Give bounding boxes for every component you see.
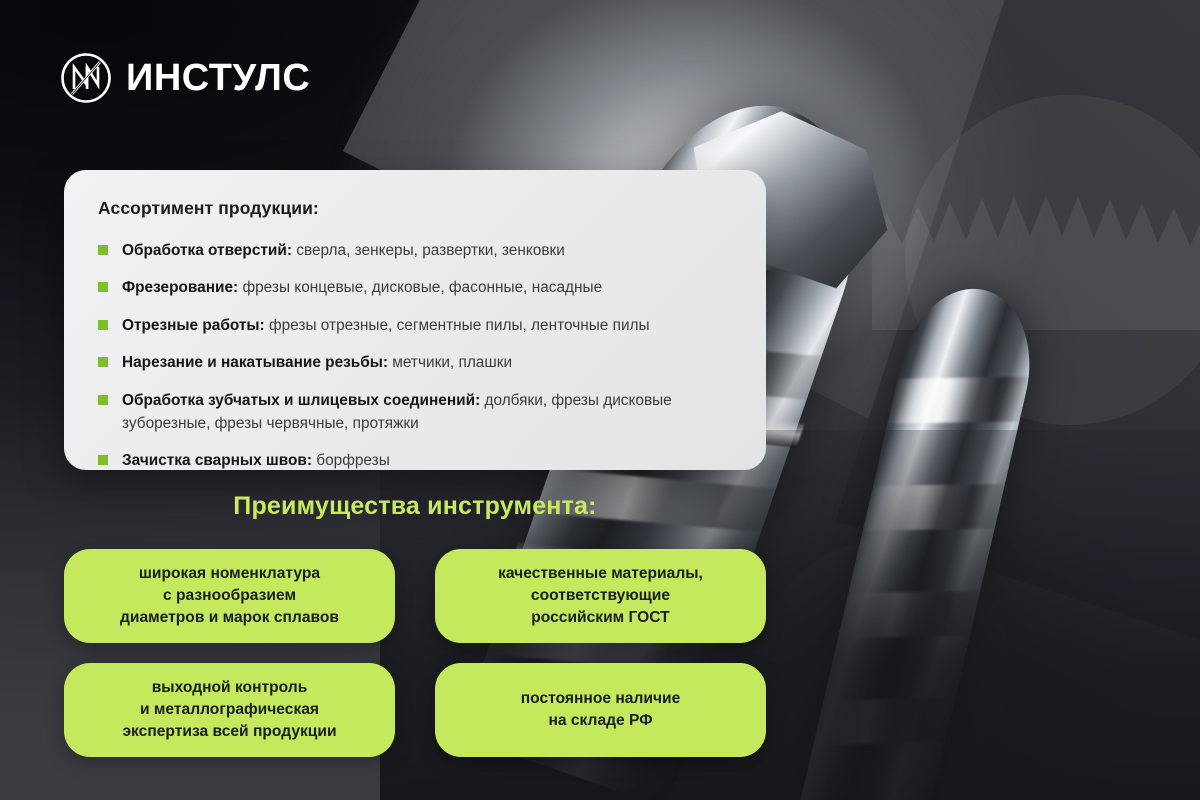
advantage-card-text: постоянное наличие на складе РФ bbox=[521, 688, 681, 732]
advantage-card-text: выходной контроль и металлографическая э… bbox=[122, 677, 336, 743]
assortment-list: Обработка отверстий: сверла, зенкеры, ра… bbox=[98, 239, 736, 473]
bullet-square-icon bbox=[98, 282, 108, 292]
assortment-panel: Ассортимент продукции: Обработка отверст… bbox=[64, 170, 766, 470]
list-item: Нарезание и накатывание резьбы: метчики,… bbox=[98, 351, 736, 374]
banner-stage: ИНСТУЛС Ассортимент продукции: Обработка… bbox=[0, 0, 1200, 800]
list-item-lead: Зачистка сварных швов: bbox=[122, 452, 312, 469]
list-item-rest: сверла, зенкеры, развертки, зенковки bbox=[292, 242, 565, 259]
bullet-square-icon bbox=[98, 395, 108, 405]
bullet-square-icon bbox=[98, 320, 108, 330]
bullet-square-icon bbox=[98, 357, 108, 367]
instools-circle-monogram-icon bbox=[60, 52, 112, 104]
list-item-lead: Фрезерование: bbox=[122, 279, 238, 296]
list-item: Обработка зубчатых и шлицевых соединений… bbox=[98, 389, 736, 436]
advantage-card[interactable]: качественные материалы, соответствующие … bbox=[435, 549, 766, 643]
list-item-rest: фрезы отрезные, сегментные пилы, ленточн… bbox=[265, 317, 650, 334]
list-item-rest: борфрезы bbox=[312, 452, 390, 469]
list-item-lead: Нарезание и накатывание резьбы: bbox=[122, 354, 388, 371]
list-item-rest: метчики, плашки bbox=[388, 354, 512, 371]
list-item: Обработка отверстий: сверла, зенкеры, ра… bbox=[98, 239, 736, 262]
brand-name: ИНСТУЛС bbox=[126, 59, 310, 97]
assortment-title: Ассортимент продукции: bbox=[98, 198, 736, 219]
advantages-cards: широкая номенклатура с разнообразием диа… bbox=[64, 549, 766, 759]
list-item-rest: фрезы концевые, дисковые, фасонные, наса… bbox=[238, 279, 602, 296]
brand-logo[interactable]: ИНСТУЛС bbox=[60, 52, 310, 104]
list-item-lead: Отрезные работы: bbox=[122, 317, 265, 334]
advantage-card-text: широкая номенклатура с разнообразием диа… bbox=[120, 563, 339, 629]
list-item: Отрезные работы: фрезы отрезные, сегмент… bbox=[98, 314, 736, 337]
advantages-title: Преимущества инструмента: bbox=[64, 492, 766, 521]
list-item: Фрезерование: фрезы концевые, дисковые, … bbox=[98, 276, 736, 299]
bullet-square-icon bbox=[98, 455, 108, 465]
advantage-card[interactable]: выходной контроль и металлографическая э… bbox=[64, 663, 395, 757]
list-item: Зачистка сварных швов: борфрезы bbox=[98, 449, 736, 472]
advantage-card-text: качественные материалы, соответствующие … bbox=[498, 563, 703, 629]
advantage-card[interactable]: широкая номенклатура с разнообразием диа… bbox=[64, 549, 395, 643]
list-item-lead: Обработка зубчатых и шлицевых соединений… bbox=[122, 392, 480, 409]
list-item-lead: Обработка отверстий: bbox=[122, 242, 292, 259]
advantage-card[interactable]: постоянное наличие на складе РФ bbox=[435, 663, 766, 757]
bullet-square-icon bbox=[98, 245, 108, 255]
